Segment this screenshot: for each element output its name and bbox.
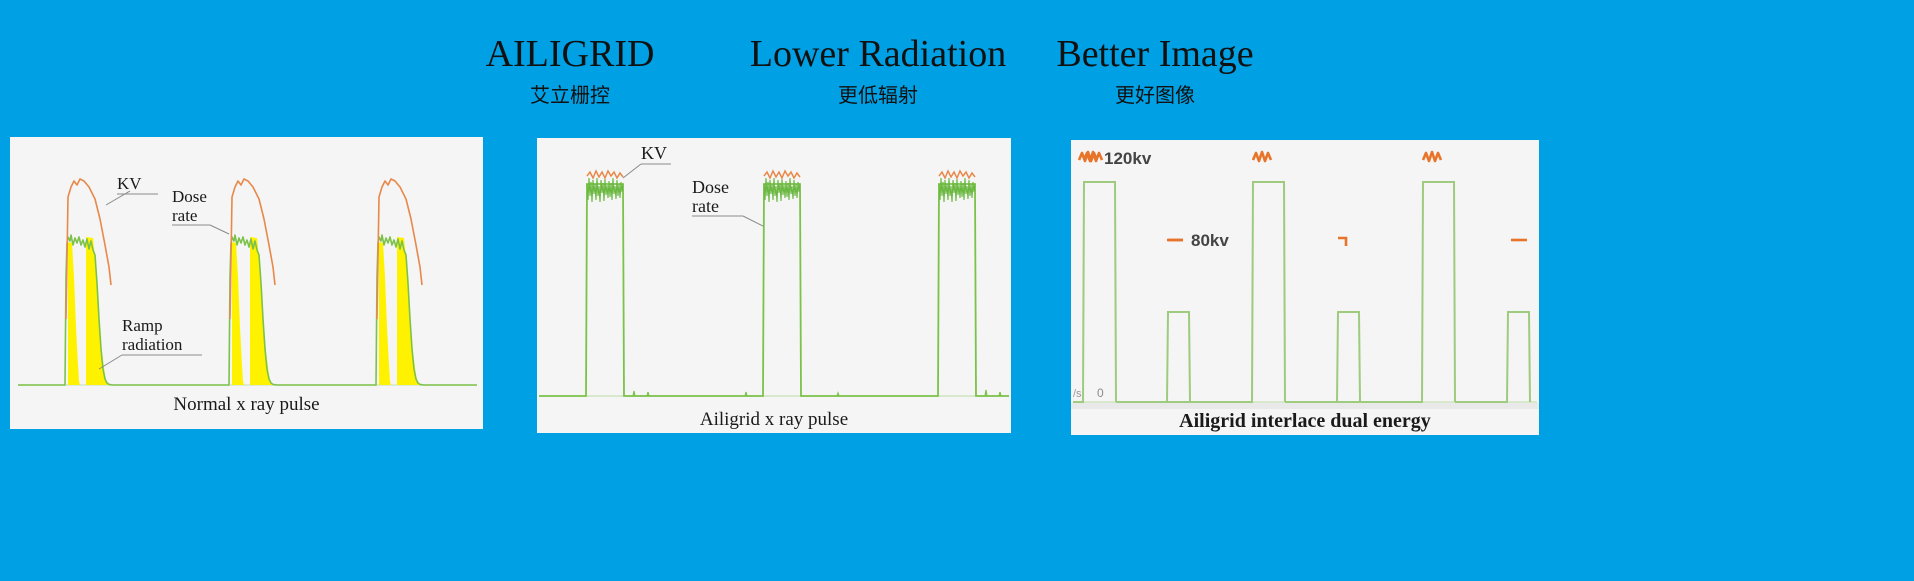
axis-zero-label: 0 bbox=[1097, 386, 1104, 400]
header-title-zh: 更好图像 bbox=[905, 82, 1405, 108]
panel-caption-interlace-dual-energy: Ailigrid interlace dual energy bbox=[1071, 410, 1539, 433]
plot-area-normal-pulse: KV Dose rate Ramp radiation bbox=[10, 137, 483, 429]
leader-line bbox=[743, 216, 763, 226]
annotation-ramp-radiation: Ramp radiation bbox=[99, 316, 202, 369]
ramp-radiation-fill bbox=[397, 237, 420, 385]
normal-pulse-svg: KV Dose rate Ramp radiation bbox=[10, 137, 483, 429]
legend-item-120kv: 120kv bbox=[1079, 149, 1152, 168]
plot-area-interlace: 120kv 80kv /s 0 bbox=[1071, 140, 1539, 435]
chart-panel-normal-x-ray-pulse: KV Dose rate Ramp radiation bbox=[10, 137, 483, 429]
pulse-80kv bbox=[1285, 312, 1360, 402]
header-group-better-image: Better Image 更好图像 bbox=[905, 32, 1405, 108]
panel-caption-ailigrid-pulse: Ailigrid x ray pulse bbox=[537, 409, 1011, 431]
pulse-120kv bbox=[1073, 182, 1116, 402]
annotation-dose-rate: Dose rate bbox=[692, 177, 763, 226]
ramp-radiation-fill bbox=[379, 242, 391, 385]
interlace-svg: 120kv 80kv /s 0 bbox=[1071, 140, 1539, 435]
leader-line bbox=[106, 191, 130, 205]
legend-item-80kv: 80kv bbox=[1167, 231, 1229, 250]
annotation-radiation-label: radiation bbox=[122, 335, 183, 354]
legend-label-80kv: 80kv bbox=[1191, 231, 1229, 250]
dose-rate-square-pulse bbox=[937, 184, 1009, 396]
annotation-rate-label: rate bbox=[172, 206, 197, 225]
dash-marker-icon bbox=[1338, 238, 1346, 246]
pulse-80kv bbox=[1116, 312, 1190, 402]
dose-rate-noise bbox=[764, 178, 800, 202]
dose-rate-noise bbox=[587, 178, 623, 202]
annotation-kv-label: KV bbox=[117, 174, 142, 193]
annotation-kv: KV bbox=[106, 174, 158, 205]
annotation-kv: KV bbox=[623, 143, 671, 178]
annotation-dose-label: Dose bbox=[692, 177, 729, 197]
ramp-radiation-fill bbox=[86, 237, 109, 385]
bottom-strip bbox=[1071, 403, 1539, 409]
annotation-rate-label: rate bbox=[692, 196, 719, 216]
panel-caption-normal-pulse: Normal x ray pulse bbox=[10, 394, 483, 416]
leader-line bbox=[623, 164, 641, 178]
chart-panel-interlace-dual-energy: 120kv 80kv /s 0 bbox=[1071, 140, 1539, 435]
kv-trace bbox=[764, 171, 800, 178]
ramp-radiation-fill bbox=[232, 242, 244, 385]
ramp-radiation-fill bbox=[250, 237, 273, 385]
axis-unit-label: /s bbox=[1073, 388, 1082, 400]
plot-area-ailigrid-pulse: KV Dose rate bbox=[537, 138, 1011, 433]
kv-trace bbox=[587, 171, 623, 178]
pulse-120kv bbox=[1285, 182, 1455, 402]
pulse-80kv bbox=[1455, 312, 1530, 402]
pulse-120kv bbox=[1116, 182, 1285, 402]
leader-line bbox=[210, 225, 229, 234]
squiggle-marker-icon bbox=[1423, 152, 1441, 161]
ailigrid-pulse-svg: KV Dose rate bbox=[537, 138, 1011, 433]
squiggle-marker-icon bbox=[1253, 152, 1271, 161]
annotation-dose-rate: Dose rate bbox=[172, 187, 229, 234]
dose-rate-square-pulse bbox=[762, 184, 937, 396]
ramp-radiation-fill bbox=[68, 242, 80, 385]
annotation-kv-label: KV bbox=[641, 143, 667, 163]
chart-panel-ailigrid-x-ray-pulse: KV Dose rate bbox=[537, 138, 1011, 433]
header-banner: AILIGRID 艾立栅控 Lower Radiation 更低辐射 Bette… bbox=[0, 0, 1914, 135]
legend-label-120kv: 120kv bbox=[1104, 149, 1152, 168]
annotation-dose-label: Dose bbox=[172, 187, 207, 206]
dose-rate-noise bbox=[939, 178, 975, 202]
kv-trace bbox=[939, 171, 975, 178]
annotation-ramp-label: Ramp bbox=[122, 316, 163, 335]
header-title-en: Better Image bbox=[905, 32, 1405, 76]
